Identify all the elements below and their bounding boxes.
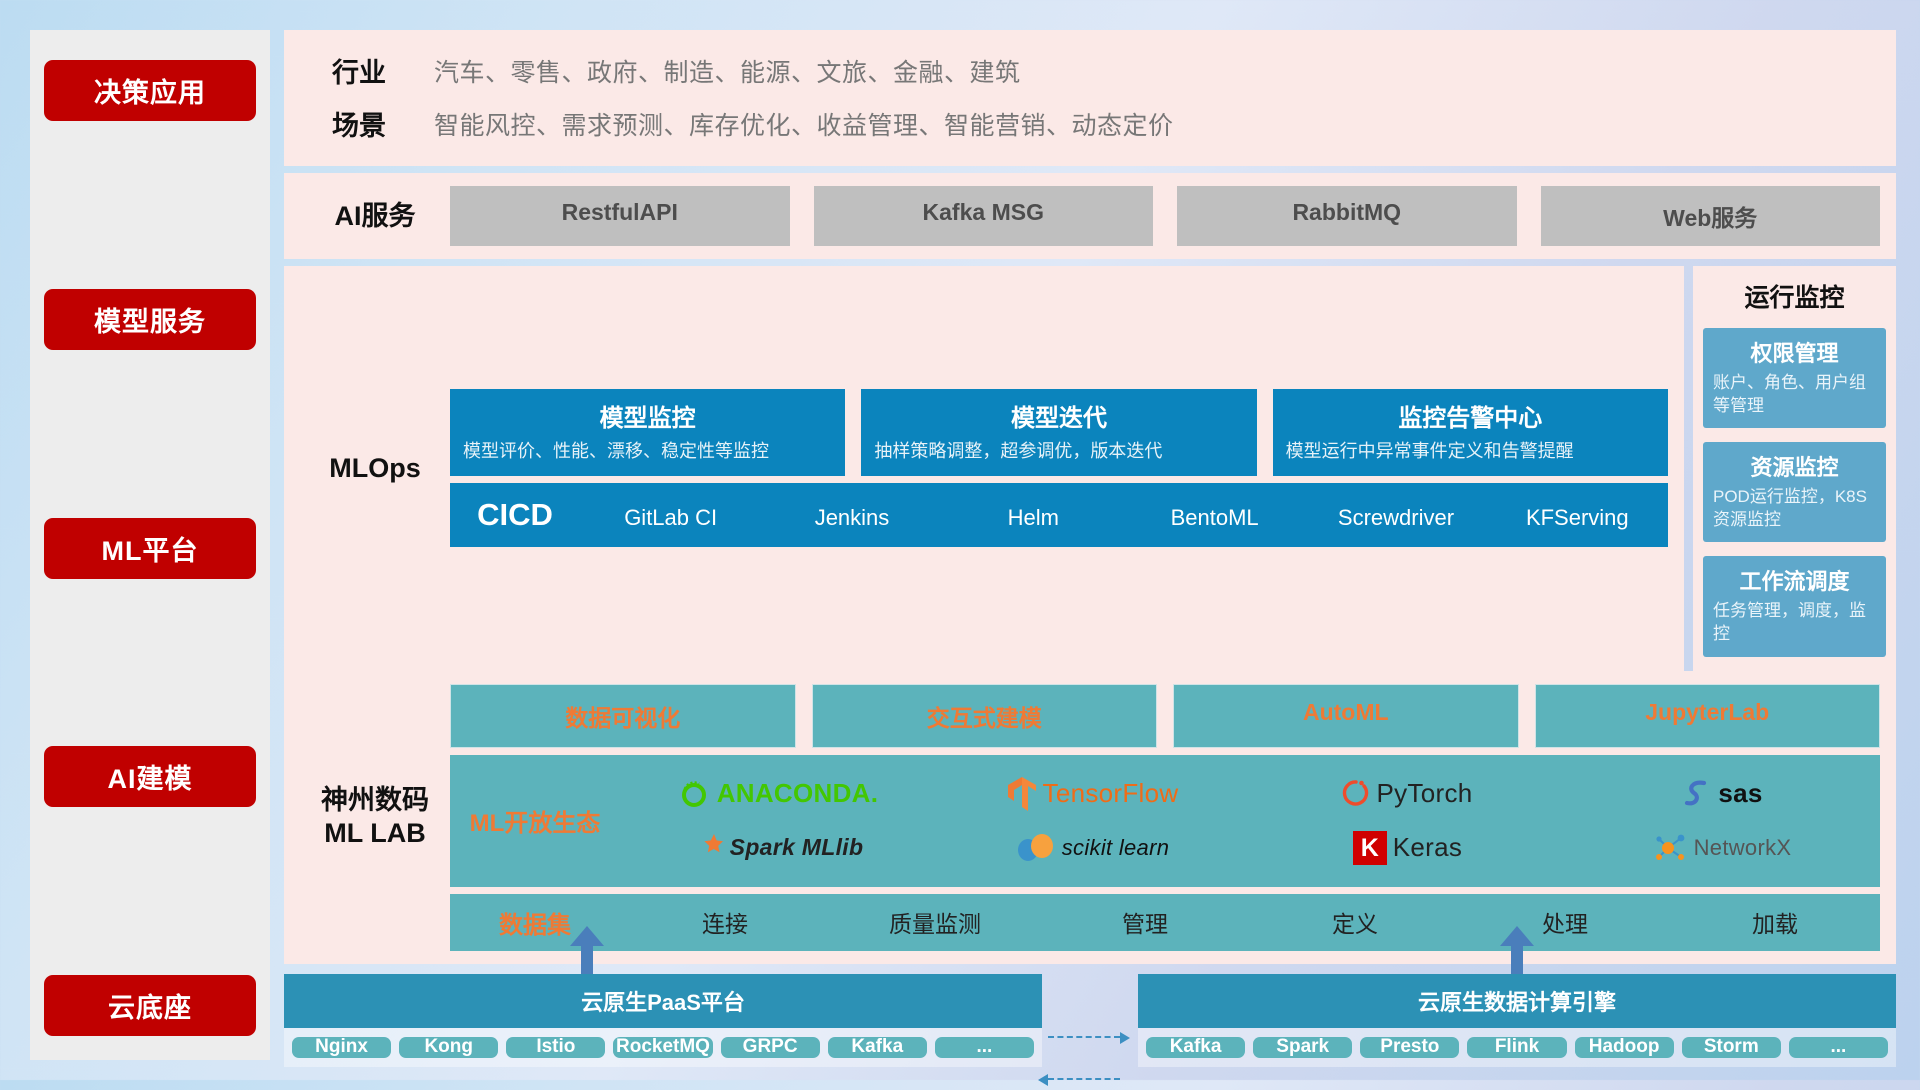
mlops-stack: 模型监控 模型评价、性能、漂移、稳定性等监控 模型迭代 抽样策略调整，超参调优，…	[450, 389, 1668, 547]
tensorflow-logo: TensorFlow	[1007, 776, 1179, 812]
ml-lab-label: 神州数码 ML LAB	[300, 784, 450, 850]
monitor-panel: 运行监控 权限管理 账户、角色、用户组等管理 资源监控 POD运行监控，K8S资…	[1693, 266, 1896, 671]
arrow-up-data-engine-icon	[1500, 926, 1534, 974]
cloud-data-engine-column: 云原生数据计算引擎 Kafka Spark Presto Flink Hadoo…	[1138, 974, 1896, 1067]
modeling-chip-interactive[interactable]: 交互式建模	[812, 684, 1158, 748]
monitor-box-desc: 账户、角色、用户组等管理	[1713, 372, 1876, 417]
mlops-card-model-monitor[interactable]: 模型监控 模型评价、性能、漂移、稳定性等监控	[450, 389, 845, 476]
tensorflow-label: TensorFlow	[1043, 778, 1179, 809]
ml-lab-label-line2: ML LAB	[300, 817, 450, 850]
spark-mllib-logo: Spark MLlib	[692, 832, 864, 864]
row-mlops: MLOps 模型监控 模型评价、性能、漂移、稳定性等监控 模型迭代 抽样策略调整…	[284, 266, 1684, 671]
mlops-cards: 模型监控 模型评价、性能、漂移、稳定性等监控 模型迭代 抽样策略调整，超参调优，…	[450, 389, 1668, 476]
sas-logo: sas	[1682, 778, 1762, 810]
cloud-paas-column: 云原生PaaS平台 Nginx Kong Istio RocketMQ GRPC…	[284, 974, 1042, 1067]
monitor-box-title: 资源监控	[1713, 450, 1876, 482]
networkx-logo: NetworkX	[1654, 832, 1792, 864]
cicd-label: CICD	[450, 497, 580, 533]
keras-mark-icon: K	[1353, 831, 1387, 865]
cloud-data-engine-title: 云原生数据计算引擎	[1138, 974, 1896, 1028]
dataset-item-manage[interactable]: 管理	[1040, 905, 1250, 939]
scenario-values: 智能风控、需求预测、库存优化、收益管理、智能营销、动态定价	[434, 106, 1174, 142]
main-column: 行业 汽车、零售、政府、制造、能源、文旅、金融、建筑 场景 智能风控、需求预测、…	[284, 30, 1896, 1060]
monitor-box-resources[interactable]: 资源监控 POD运行监控，K8S资源监控	[1703, 442, 1886, 542]
ai-service-chip-restfulapi[interactable]: RestfulAPI	[450, 186, 790, 246]
monitor-box-workflow[interactable]: 工作流调度 任务管理，调度，监控	[1703, 556, 1886, 656]
keras-logo: K Keras	[1353, 831, 1462, 865]
industry-values: 汽车、零售、政府、制造、能源、文旅、金融、建筑	[434, 53, 1021, 89]
layer-chip-cloud-base[interactable]: 云底座	[44, 975, 256, 1036]
networkx-mark-icon	[1654, 832, 1688, 864]
monitor-box-desc: 任务管理，调度，监控	[1713, 600, 1876, 645]
ml-lab-label-line1: 神州数码	[300, 784, 450, 817]
cicd-tool-screwdriver[interactable]: Screwdriver	[1305, 502, 1486, 529]
layer-rail: 决策应用 模型服务 ML平台 AI建模 云底座	[30, 30, 270, 1060]
cloud-item-istio[interactable]: Istio	[506, 1037, 605, 1058]
ai-service-chip-kafka-msg[interactable]: Kafka MSG	[814, 186, 1154, 246]
cloud-item-nginx[interactable]: Nginx	[292, 1037, 391, 1058]
layer-chip-ml-platform[interactable]: ML平台	[44, 518, 256, 579]
anaconda-label: ANACONDA.	[717, 778, 879, 809]
cloud-paas-items: Nginx Kong Istio RocketMQ GRPC Kafka ...	[284, 1028, 1042, 1067]
anaconda-mark-icon	[677, 777, 711, 811]
modeling-chips: 数据可视化 交互式建模 AutoML JupyterLab	[450, 684, 1880, 748]
ai-service-chip-rabbitmq[interactable]: RabbitMQ	[1177, 186, 1517, 246]
engine-item-presto[interactable]: Presto	[1360, 1037, 1459, 1058]
scenario-key: 场景	[284, 104, 434, 143]
dataset-item-connect[interactable]: 连接	[620, 905, 830, 939]
mlops-card-title: 模型监控	[463, 398, 832, 433]
ai-service-chip-web[interactable]: Web服务	[1541, 186, 1881, 246]
spark-mllib-label: Spark MLlib	[730, 834, 864, 861]
dataset-item-process[interactable]: 处理	[1460, 905, 1670, 939]
dataset-item-quality[interactable]: 质量监测	[830, 905, 1040, 939]
engine-item-hadoop[interactable]: Hadoop	[1575, 1037, 1674, 1058]
pytorch-logo: PyTorch	[1342, 777, 1472, 811]
tensorflow-mark-icon	[1007, 776, 1037, 812]
mlops-card-alert-center[interactable]: 监控告警中心 模型运行中异常事件定义和告警提醒	[1273, 389, 1668, 476]
mlops-card-desc: 模型运行中异常事件定义和告警提醒	[1286, 439, 1655, 463]
layer-chip-model-service[interactable]: 模型服务	[44, 289, 256, 350]
dataset-item-load[interactable]: 加载	[1670, 905, 1880, 939]
modeling-chip-data-viz[interactable]: 数据可视化	[450, 684, 796, 748]
architecture-diagram: 决策应用 模型服务 ML平台 AI建模 云底座 行业 汽车、零售、政府、制造、能…	[0, 0, 1920, 1080]
layer-chip-decision[interactable]: 决策应用	[44, 60, 256, 121]
pytorch-mark-icon	[1342, 777, 1370, 811]
cicd-tool-helm[interactable]: Helm	[943, 502, 1124, 529]
engine-item-more[interactable]: ...	[1789, 1037, 1888, 1058]
cloud-item-kafka[interactable]: Kafka	[828, 1037, 927, 1058]
industry-key: 行业	[284, 51, 434, 90]
ai-service-label: AI服务	[300, 200, 450, 233]
row-ai-modeling: 神州数码 ML LAB 数据可视化 交互式建模 AutoML JupyterLa…	[284, 671, 1896, 964]
ml-ecosystem-bar: ML开放生态 ANACONDA.	[450, 755, 1880, 887]
cloud-data-engine-items: Kafka Spark Presto Flink Hadoop Storm ..…	[1138, 1028, 1896, 1067]
dataset-item-define[interactable]: 定义	[1250, 905, 1460, 939]
arrow-right-icon	[1048, 1036, 1120, 1038]
mlops-card-desc: 模型评价、性能、漂移、稳定性等监控	[463, 439, 832, 463]
mlops-card-title: 监控告警中心	[1286, 398, 1655, 433]
monitor-box-title: 工作流调度	[1713, 564, 1876, 596]
arrow-left-icon	[1048, 1078, 1120, 1080]
industry-line: 行业 汽车、零售、政府、制造、能源、文旅、金融、建筑	[284, 51, 1878, 90]
mlops-card-title: 模型迭代	[874, 398, 1243, 433]
modeling-chip-automl[interactable]: AutoML	[1173, 684, 1519, 748]
mlops-card-model-iteration[interactable]: 模型迭代 抽样策略调整，超参调优，版本迭代	[861, 389, 1256, 476]
dataset-bar: 数据集 连接 质量监测 管理 定义 处理 加载	[450, 894, 1880, 951]
cicd-tool-gitlab-ci[interactable]: GitLab CI	[580, 502, 761, 529]
scikit-learn-mark-icon	[1016, 831, 1056, 865]
networkx-label: NetworkX	[1694, 835, 1792, 861]
cicd-tool-bentoml[interactable]: BentoML	[1124, 502, 1305, 529]
sas-label: sas	[1718, 778, 1762, 809]
row-cloud-base: 云原生PaaS平台 Nginx Kong Istio RocketMQ GRPC…	[284, 974, 1896, 1067]
cloud-paas-title: 云原生PaaS平台	[284, 974, 1042, 1028]
ml-ecosystem-logos: ANACONDA. TensorFlow	[620, 767, 1880, 875]
engine-item-spark[interactable]: Spark	[1253, 1037, 1352, 1058]
ml-ecosystem-label: ML开放生态	[450, 803, 620, 838]
cicd-tool-jenkins[interactable]: Jenkins	[761, 502, 942, 529]
monitor-box-desc: POD运行监控，K8S资源监控	[1713, 486, 1876, 531]
monitor-box-permissions[interactable]: 权限管理 账户、角色、用户组等管理	[1703, 328, 1886, 428]
engine-item-kafka[interactable]: Kafka	[1146, 1037, 1245, 1058]
monitor-box-title: 权限管理	[1713, 336, 1876, 368]
modeling-chip-jupyterlab[interactable]: JupyterLab	[1535, 684, 1881, 748]
cicd-bar: CICD GitLab CI Jenkins Helm BentoML Scre…	[450, 483, 1668, 547]
cloud-item-kong[interactable]: Kong	[399, 1037, 498, 1058]
scenario-line: 场景 智能风控、需求预测、库存优化、收益管理、智能营销、动态定价	[284, 104, 1878, 143]
cloud-item-more[interactable]: ...	[935, 1037, 1034, 1058]
ai-service-chips: RestfulAPI Kafka MSG RabbitMQ Web服务	[450, 186, 1880, 246]
cicd-tools: GitLab CI Jenkins Helm BentoML Screwdriv…	[580, 502, 1668, 529]
row-industry-scenario: 行业 汽车、零售、政府、制造、能源、文旅、金融、建筑 场景 智能风控、需求预测、…	[284, 30, 1896, 166]
spark-star-icon	[692, 832, 724, 864]
pytorch-label: PyTorch	[1376, 778, 1472, 809]
mlops-card-desc: 抽样策略调整，超参调优，版本迭代	[874, 439, 1243, 463]
sas-mark-icon	[1682, 778, 1712, 810]
arrow-up-paas-icon	[570, 926, 604, 974]
keras-label: Keras	[1393, 832, 1462, 863]
layer-chip-ai-modeling[interactable]: AI建模	[44, 746, 256, 807]
cloud-item-rocketmq[interactable]: RocketMQ	[613, 1037, 712, 1058]
row-ai-service: AI服务 RestfulAPI Kafka MSG RabbitMQ Web服务	[284, 173, 1896, 259]
cloud-item-grpc[interactable]: GRPC	[721, 1037, 820, 1058]
row-mlops-wrapper: MLOps 模型监控 模型评价、性能、漂移、稳定性等监控 模型迭代 抽样策略调整…	[284, 266, 1896, 671]
scikit-learn-label: scikit learn	[1062, 835, 1170, 861]
engine-item-storm[interactable]: Storm	[1682, 1037, 1781, 1058]
dataset-items: 连接 质量监测 管理 定义 处理 加载	[620, 905, 1880, 939]
bidirectional-arrows	[1042, 1020, 1138, 1090]
mlops-label: MLOps	[300, 452, 450, 485]
engine-item-flink[interactable]: Flink	[1467, 1037, 1566, 1058]
monitor-panel-title: 运行监控	[1744, 278, 1844, 314]
cicd-tool-kfserving[interactable]: KFServing	[1487, 502, 1668, 529]
scikit-learn-logo: scikit learn	[1016, 831, 1170, 865]
anaconda-logo: ANACONDA.	[677, 777, 879, 811]
modeling-stack: 数据可视化 交互式建模 AutoML JupyterLab ML开放生态 A	[450, 684, 1880, 951]
